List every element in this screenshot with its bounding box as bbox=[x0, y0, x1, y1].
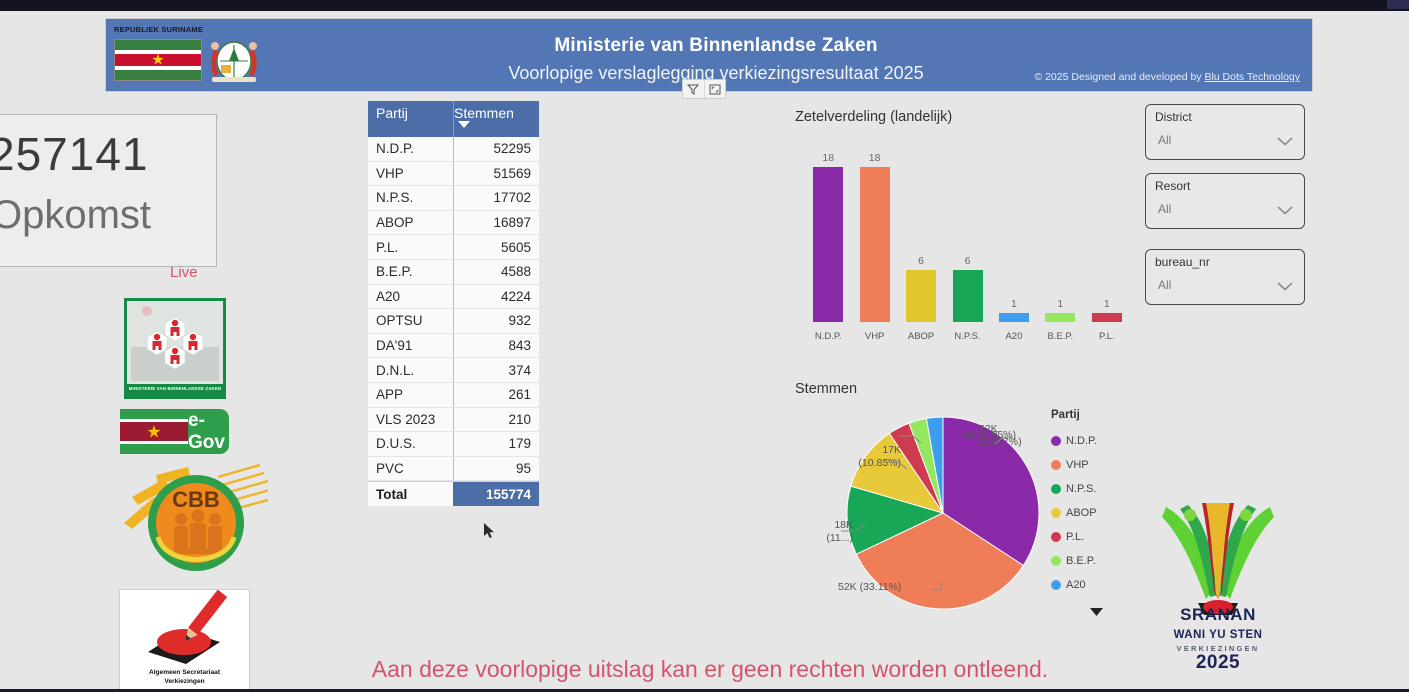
cell-partij: N.D.P. bbox=[368, 141, 453, 156]
bar-value-label: 1 bbox=[999, 298, 1029, 310]
developer-credit: © 2025 Designed and developed by Blu Dot… bbox=[1034, 71, 1300, 83]
sranan-year: 2025 bbox=[1158, 652, 1278, 674]
cbb-logo: CBB bbox=[118, 463, 268, 581]
chevron-down-icon[interactable] bbox=[1277, 133, 1293, 151]
cell-partij: PVC bbox=[368, 461, 453, 476]
bar-rect[interactable] bbox=[1045, 313, 1075, 322]
suriname-flag-icon: ★ bbox=[114, 39, 202, 81]
stemmen-pie-chart[interactable]: Stemmen 5K (2.95%) 17K (10.85%) 18K (11.… bbox=[795, 381, 1140, 626]
table-row[interactable]: D.N.L.374 bbox=[368, 358, 539, 383]
legend-title: Partij bbox=[1051, 409, 1141, 421]
column-header-stemmen[interactable]: Stemmen bbox=[453, 101, 539, 137]
legend-item-vhp[interactable]: VHP bbox=[1051, 453, 1141, 477]
visual-hover-toolbar[interactable] bbox=[682, 79, 726, 99]
cell-partij: VLS 2023 bbox=[368, 412, 453, 427]
bar-rect[interactable] bbox=[1092, 313, 1122, 322]
cell-stemmen: 843 bbox=[453, 334, 539, 358]
ministerie-binnenlandse-zaken-logo: MINISTERIE VAN BINNENLANDSE ZAKEN bbox=[124, 298, 226, 399]
slicer-bureau-nr-value[interactable]: All bbox=[1158, 278, 1171, 292]
bar-category-label: P.L. bbox=[1084, 331, 1130, 342]
algemeen-secretariaat-verkiezingen-logo: Algemeen Secretariaat Verkiezingen bbox=[119, 589, 250, 692]
cell-partij: ABOP bbox=[368, 215, 453, 230]
powerbi-report-page: REPUBLIEK SURINAME ★ bbox=[0, 11, 1409, 689]
cell-partij: DA'91 bbox=[368, 338, 453, 353]
table-row[interactable]: VLS 2023210 bbox=[368, 408, 539, 433]
pie-label-abop: 17K (10.85%) bbox=[801, 444, 901, 470]
cell-partij: P.L. bbox=[368, 240, 453, 255]
column-header-partij[interactable]: Partij bbox=[368, 101, 453, 137]
cell-partij: B.E.P. bbox=[368, 264, 453, 279]
bar-category-label: B.E.P. bbox=[1037, 331, 1083, 342]
table-row[interactable]: APP261 bbox=[368, 383, 539, 408]
legend-item-nps[interactable]: N.P.S. bbox=[1051, 477, 1141, 501]
pie-chart-legend[interactable]: Partij N.D.P.VHPN.P.S.ABOPP.L.B.E.P.A20 bbox=[1051, 409, 1141, 621]
bar-rect[interactable] bbox=[999, 313, 1029, 322]
sort-descending-icon[interactable] bbox=[458, 121, 470, 128]
sranan-title: SRANAN bbox=[1158, 605, 1278, 625]
cell-stemmen: 210 bbox=[453, 408, 539, 432]
table-row[interactable]: ABOP16897 bbox=[368, 211, 539, 236]
legend-items: N.D.P.VHPN.P.S.ABOPP.L.B.E.P.A20 bbox=[1051, 429, 1141, 597]
slicer-bureau-nr-title: bureau_nr bbox=[1155, 255, 1210, 269]
bar-rect[interactable] bbox=[813, 167, 843, 322]
legend-label: N.P.S. bbox=[1066, 483, 1096, 495]
bar-category-label: N.D.P. bbox=[805, 331, 851, 342]
cell-stemmen: 95 bbox=[453, 457, 539, 481]
asv-caption-line1: Algemeen Secretariaat bbox=[120, 668, 249, 678]
slicer-district-title: District bbox=[1155, 110, 1192, 124]
table-row[interactable]: D.U.S.179 bbox=[368, 432, 539, 457]
bar-value-label: 1 bbox=[1045, 298, 1075, 310]
table-row[interactable]: P.L.5605 bbox=[368, 235, 539, 260]
legend-label: B.E.P. bbox=[1066, 555, 1096, 567]
bar-value-label: 1 bbox=[1092, 298, 1122, 310]
table-row[interactable]: N.D.P.52295 bbox=[368, 137, 539, 162]
total-value: 155774 bbox=[453, 482, 539, 506]
cell-partij: D.U.S. bbox=[368, 436, 453, 451]
chevron-down-icon[interactable] bbox=[1277, 278, 1293, 296]
blu-dots-technology-link[interactable]: Blu Dots Technology bbox=[1204, 71, 1300, 83]
bar-rect[interactable] bbox=[953, 270, 983, 322]
window-top-bar bbox=[0, 0, 1409, 11]
total-label: Total bbox=[368, 487, 453, 502]
cell-stemmen: 17702 bbox=[453, 186, 539, 210]
bar-rect[interactable] bbox=[906, 270, 936, 322]
table-header-row: Partij Stemmen bbox=[368, 101, 539, 137]
cell-stemmen: 51569 bbox=[453, 162, 539, 186]
bar-category-label: ABOP bbox=[898, 331, 944, 342]
egov-label: e-Gov bbox=[188, 409, 229, 454]
legend-color-swatch bbox=[1051, 460, 1061, 470]
asv-logo-caption: Algemeen Secretariaat Verkiezingen bbox=[120, 668, 249, 687]
cell-stemmen: 179 bbox=[453, 432, 539, 456]
stemmen-table[interactable]: Partij Stemmen N.D.P.52295VHP51569N.P.S.… bbox=[368, 101, 539, 506]
cell-partij: N.P.S. bbox=[368, 190, 453, 205]
cell-partij: OPTSU bbox=[368, 313, 453, 328]
cell-stemmen: 52295 bbox=[453, 137, 539, 161]
suriname-coat-of-arms-icon bbox=[206, 35, 262, 85]
cell-partij: A20 bbox=[368, 289, 453, 304]
opkomst-value: 257141 bbox=[0, 127, 204, 181]
legend-color-swatch bbox=[1051, 532, 1061, 542]
table-row[interactable]: B.E.P.4588 bbox=[368, 260, 539, 285]
legend-color-swatch bbox=[1051, 556, 1061, 566]
biza-logo-caption: MINISTERIE VAN BINNENLANDSE ZAKEN bbox=[127, 386, 223, 391]
pie-label-vhp: 52K (33.11%) bbox=[838, 581, 958, 594]
legend-label: P.L. bbox=[1066, 531, 1084, 543]
sranan-logo-graphic bbox=[1158, 503, 1278, 621]
table-row[interactable]: A204224 bbox=[368, 285, 539, 310]
bar-category-label: N.P.S. bbox=[945, 331, 991, 342]
legend-color-swatch bbox=[1051, 484, 1061, 494]
bar-chart-title: Zetelverdeling (landelijk) bbox=[795, 109, 1135, 125]
credit-text: © 2025 Designed and developed by bbox=[1034, 71, 1204, 83]
legend-color-swatch bbox=[1051, 580, 1061, 590]
bar-category-label: VHP bbox=[852, 331, 898, 342]
cell-stemmen: 16897 bbox=[453, 211, 539, 235]
table-row[interactable]: N.P.S.17702 bbox=[368, 186, 539, 211]
slicer-district[interactable]: District All bbox=[1145, 104, 1305, 160]
focus-mode-icon[interactable] bbox=[704, 80, 725, 98]
opkomst-label: Opkomst bbox=[0, 193, 206, 238]
slicer-resort-value[interactable]: All bbox=[1158, 202, 1171, 216]
table-row[interactable]: PVC95 bbox=[368, 457, 539, 482]
cell-partij: APP bbox=[368, 387, 453, 402]
table-row[interactable]: VHP51569 bbox=[368, 162, 539, 187]
bar-category-label: A20 bbox=[991, 331, 1037, 342]
bar-value-label: 18 bbox=[813, 152, 843, 164]
legend-item-pl[interactable]: P.L. bbox=[1051, 525, 1141, 549]
sranan-subtitle: WANI YU STEN bbox=[1158, 629, 1278, 641]
chevron-down-icon[interactable] bbox=[1277, 202, 1293, 220]
mouse-cursor bbox=[484, 523, 496, 541]
legend-color-swatch bbox=[1051, 436, 1061, 446]
legend-item-ndp[interactable]: N.D.P. bbox=[1051, 429, 1141, 453]
table-row[interactable]: DA'91843 bbox=[368, 334, 539, 359]
cell-partij: D.N.L. bbox=[368, 363, 453, 378]
bar-chart-plot-area: 18N.D.P.18VHP6ABOP6N.P.S.1A201B.E.P.1P.L… bbox=[805, 149, 1130, 344]
egov-logo: ★ e-Gov bbox=[120, 409, 229, 454]
legend-item-a20[interactable]: A20 bbox=[1051, 573, 1141, 597]
live-status-badge: Live bbox=[170, 264, 198, 281]
cell-stemmen: 261 bbox=[453, 383, 539, 407]
legend-label: VHP bbox=[1066, 459, 1089, 471]
cell-stemmen: 374 bbox=[453, 358, 539, 382]
cell-stemmen: 5605 bbox=[453, 235, 539, 259]
legend-more-chevron-down-icon[interactable] bbox=[1051, 603, 1141, 621]
filter-icon[interactable] bbox=[683, 80, 704, 98]
disclaimer-text: Aan deze voorlopige uitslag kan er geen … bbox=[260, 656, 1160, 683]
cell-stemmen: 4588 bbox=[453, 260, 539, 284]
cell-partij: VHP bbox=[368, 166, 453, 181]
pie-label-nps: 18K (11...) bbox=[795, 519, 853, 545]
slicer-resort[interactable]: Resort All bbox=[1145, 173, 1305, 229]
cbb-logo-text: CBB bbox=[172, 487, 220, 512]
asv-caption-line2: Verkiezingen bbox=[120, 677, 249, 687]
table-row[interactable]: OPTSU932 bbox=[368, 309, 539, 334]
table-body: N.D.P.52295VHP51569N.P.S.17702ABOP16897P… bbox=[368, 137, 539, 481]
slicer-district-value[interactable]: All bbox=[1158, 133, 1171, 147]
report-title: Ministerie van Binnenlandse Zaken bbox=[366, 35, 1066, 57]
zetelverdeling-bar-chart[interactable]: Zetelverdeling (landelijk) 18N.D.P.18VHP… bbox=[795, 109, 1135, 367]
legend-item-bep[interactable]: B.E.P. bbox=[1051, 549, 1141, 573]
pie-label-ndp-major: 52K (33.57%) bbox=[979, 423, 1049, 449]
bar-value-label: 18 bbox=[860, 152, 890, 164]
slicer-resort-title: Resort bbox=[1155, 179, 1190, 193]
report-canvas: REPUBLIEK SURINAME ★ bbox=[0, 0, 1409, 692]
legend-color-swatch bbox=[1051, 508, 1061, 518]
opkomst-kpi-card: 257141 Opkomst bbox=[0, 114, 217, 267]
legend-label: ABOP bbox=[1066, 507, 1097, 519]
legend-label: N.D.P. bbox=[1066, 435, 1097, 447]
pie-chart-title: Stemmen bbox=[795, 381, 1140, 397]
bar-value-label: 6 bbox=[906, 255, 936, 267]
national-emblem-group: REPUBLIEK SURINAME ★ bbox=[110, 23, 230, 87]
column-header-stemmen-label: Stemmen bbox=[454, 105, 514, 121]
legend-label: A20 bbox=[1066, 579, 1086, 591]
sranan-wani-yu-sten-logo: SRANAN WANI YU STEN VERKIEZINGEN 2025 bbox=[1158, 503, 1278, 668]
bar-value-label: 6 bbox=[953, 255, 983, 267]
cell-stemmen: 932 bbox=[453, 309, 539, 333]
table-total-row: Total 155774 bbox=[368, 481, 539, 506]
slicer-bureau-nr[interactable]: bureau_nr All bbox=[1145, 249, 1305, 305]
top-bar-accent bbox=[1387, 0, 1409, 9]
bar-rect[interactable] bbox=[860, 167, 890, 322]
egov-flag-icon: ★ bbox=[120, 409, 188, 454]
legend-item-abop[interactable]: ABOP bbox=[1051, 501, 1141, 525]
republiek-suriname-label: REPUBLIEK SURINAME bbox=[110, 23, 230, 34]
cell-stemmen: 4224 bbox=[453, 285, 539, 309]
